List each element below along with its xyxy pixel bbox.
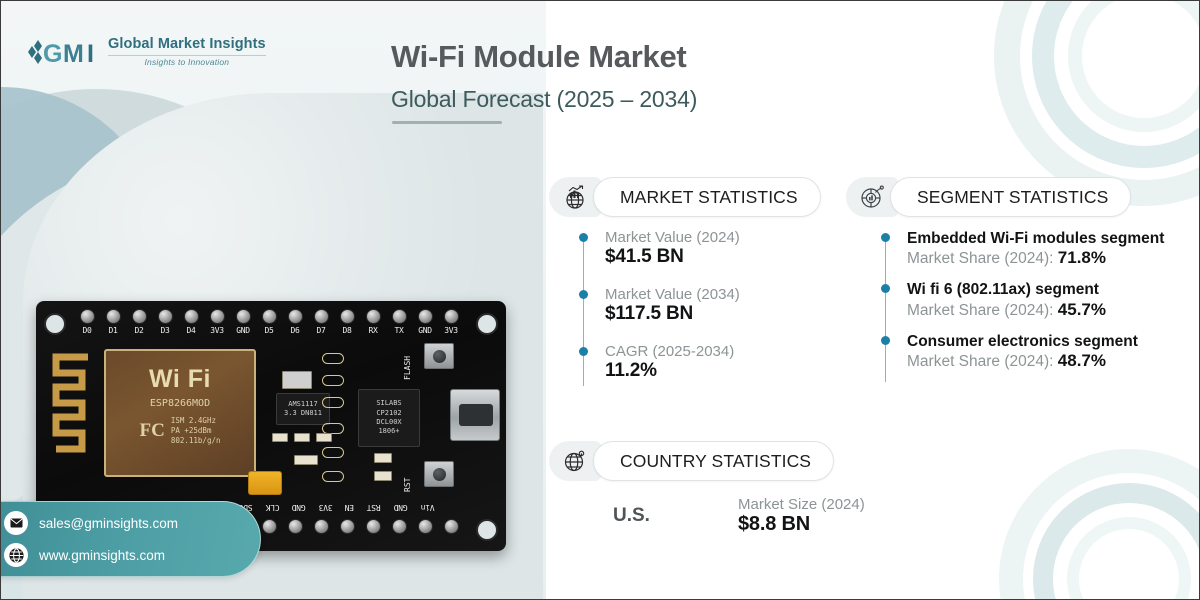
market-statistics-header: MARKET STATISTICS	[549, 177, 821, 217]
reset-button[interactable]	[424, 461, 454, 487]
bullet-dot	[881, 233, 890, 242]
solder-pad	[322, 397, 344, 408]
market-stat-item: Market Value (2034) $117.5 BN	[579, 286, 829, 325]
bullet-dot	[881, 284, 890, 293]
bullet-dot	[881, 336, 890, 345]
country-statistics-header: COUNTRY STATISTICS	[549, 441, 834, 481]
module-spec-line: 802.11b/g/n	[171, 436, 221, 446]
segment-share-value: 45.7%	[1058, 300, 1106, 319]
brand-divider	[108, 55, 266, 56]
segment-statistics-pill: SEGMENT STATISTICS	[890, 177, 1131, 217]
svg-text:I: I	[87, 40, 94, 67]
board-top-pin-row: D0 D1 D2 D3 D4 3V3 GND D5 D6 D7 D8 RX TX…	[76, 309, 462, 335]
brand-name: Global Market Insights	[108, 37, 266, 52]
country-metric-label: Market Size (2024)	[738, 496, 865, 513]
contact-email-row[interactable]: sales@gminsights.com	[4, 511, 260, 535]
country-statistics-row: U.S. Market Size (2024) $8.8 BN	[613, 496, 865, 536]
decor-rings-top-right	[994, 0, 1200, 206]
pin-label: 3V3	[444, 326, 458, 335]
envelope-icon	[4, 511, 28, 535]
esp8266-module: Wi Fi ESP8266MOD FC ISM 2.4GHz PA +25dBm…	[104, 349, 256, 477]
gmi-logo-icon: G M I	[23, 37, 99, 67]
segment-stat-item: Embedded Wi-Fi modules segment Market Sh…	[881, 229, 1181, 268]
usb-chip-line: 1806+	[378, 427, 399, 436]
market-stat-label: CAGR (2025-2034)	[605, 343, 829, 360]
market-stat-value: $117.5 BN	[605, 303, 829, 325]
segment-stat-item: Wi fi 6 (802.11ax) segment Market Share …	[881, 280, 1181, 319]
page-title: Wi-Fi Module Market	[391, 39, 686, 75]
pin-label: D6	[290, 326, 299, 335]
module-name-label: ESP8266MOD	[150, 398, 210, 409]
pin-label: RST	[367, 503, 381, 512]
segment-share-label: Market Share (2024):	[907, 302, 1053, 319]
country-statistics-label: COUNTRY STATISTICS	[620, 451, 811, 472]
market-statistics-pill: MARKET STATISTICS	[593, 177, 821, 217]
smd-component	[374, 471, 392, 481]
bullet-dot	[579, 347, 588, 356]
solder-pad	[322, 375, 344, 386]
solder-pad	[322, 447, 344, 458]
fcc-mark-icon: FC	[140, 420, 165, 442]
pin-label: TX	[394, 326, 403, 335]
pin-label: EN	[345, 503, 354, 512]
usb-chip-line: DCL00X	[376, 418, 401, 427]
segment-share: Market Share (2024): 48.7%	[907, 351, 1181, 371]
board-mount-hole	[476, 519, 498, 541]
market-stat-item: CAGR (2025-2034) 11.2%	[579, 343, 829, 382]
page-subtitle: Global Forecast (2025 – 2034)	[391, 86, 697, 113]
bullet-dot	[579, 290, 588, 299]
module-spec-line: ISM 2.4GHz	[171, 416, 221, 426]
country-statistics-pill: COUNTRY STATISTICS	[593, 441, 834, 481]
brand-tagline: Insights to Innovation	[108, 58, 266, 67]
segment-statistics-list: Embedded Wi-Fi modules segment Market Sh…	[881, 229, 1181, 371]
pin-label: Vin	[421, 503, 435, 512]
segment-statistics-header: SEGMENT STATISTICS	[846, 177, 1131, 217]
usb-chip-line: CP2102	[376, 409, 401, 418]
smd-component	[316, 433, 332, 442]
market-statistics-list: Market Value (2024) $41.5 BN Market Valu…	[579, 229, 829, 382]
reset-button-label: RST	[403, 478, 412, 492]
segment-title: Wi fi 6 (802.11ax) segment	[907, 280, 1181, 299]
solder-pad	[322, 471, 344, 482]
market-stat-item: Market Value (2024) $41.5 BN	[579, 229, 829, 268]
pin-label: D0	[82, 326, 91, 335]
pin-label: 3V3	[319, 503, 333, 512]
smd-component	[282, 371, 312, 389]
pin-label: RX	[368, 326, 377, 335]
segment-statistics-label: SEGMENT STATISTICS	[917, 187, 1108, 208]
module-brand-label: Wi Fi	[149, 367, 211, 392]
contact-email: sales@gminsights.com	[39, 516, 178, 531]
pin-label: CLK	[266, 503, 280, 512]
title-underline	[392, 121, 502, 124]
contact-website: www.gminsights.com	[39, 548, 165, 563]
market-stat-label: Market Value (2024)	[605, 229, 829, 246]
flash-button[interactable]	[424, 343, 454, 369]
market-stat-label: Market Value (2034)	[605, 286, 829, 303]
decor-rings-bottom-right	[999, 449, 1200, 600]
country-name: U.S.	[613, 496, 738, 527]
segment-share: Market Share (2024): 45.7%	[907, 300, 1181, 320]
pin-label: GND	[418, 326, 432, 335]
segment-stat-item: Consumer electronics segment Market Shar…	[881, 332, 1181, 371]
pin-label: D3	[160, 326, 169, 335]
globe-icon	[4, 543, 28, 567]
pin-label: GND	[292, 503, 306, 512]
segment-share-label: Market Share (2024):	[907, 353, 1053, 370]
svg-text:M: M	[63, 40, 84, 67]
pin-label: D8	[342, 326, 351, 335]
smd-component	[294, 433, 310, 442]
board-mount-hole	[44, 313, 66, 335]
solder-pad	[322, 353, 344, 364]
usb-serial-chip: SILABS CP2102 DCL00X 1806+	[358, 389, 420, 447]
micro-usb-port	[450, 389, 500, 441]
smd-component	[272, 433, 288, 442]
module-spec-line: PA +25dBm	[171, 426, 221, 436]
contact-website-row[interactable]: www.gminsights.com	[4, 543, 260, 567]
pin-label: D2	[134, 326, 143, 335]
smd-component	[294, 455, 318, 465]
pin-label: GND	[394, 503, 408, 512]
segment-share: Market Share (2024): 71.8%	[907, 248, 1181, 268]
bullet-dot	[579, 233, 588, 242]
flash-button-label: FLASH	[403, 356, 412, 380]
regulator-label: AMS1117	[288, 400, 318, 409]
segment-title: Embedded Wi-Fi modules segment	[907, 229, 1181, 248]
usb-chip-line: SILABS	[376, 399, 401, 408]
pin-label: D1	[108, 326, 117, 335]
pin-label: D4	[186, 326, 195, 335]
board-mount-hole	[476, 313, 498, 335]
brand-logo[interactable]: G M I Global Market Insights Insights to…	[23, 37, 266, 67]
country-metric-value: $8.8 BN	[738, 513, 865, 536]
regulator-sublabel: 3.3 DN811	[284, 409, 322, 418]
pin-label: GND	[236, 326, 250, 335]
svg-text:G: G	[43, 40, 62, 67]
pin-label: D7	[316, 326, 325, 335]
market-statistics-label: MARKET STATISTICS	[620, 187, 798, 208]
segment-share-label: Market Share (2024):	[907, 250, 1053, 267]
segment-share-value: 48.7%	[1058, 351, 1106, 370]
pin-label: 3V3	[210, 326, 224, 335]
segment-title: Consumer electronics segment	[907, 332, 1181, 351]
smd-component	[374, 453, 392, 463]
pin-label: D5	[264, 326, 273, 335]
market-stat-value: 11.2%	[605, 360, 829, 382]
segment-share-value: 71.8%	[1058, 248, 1106, 267]
market-stat-value: $41.5 BN	[605, 246, 829, 268]
pcb-antenna-trace	[48, 353, 96, 463]
infographic-canvas: G M I Global Market Insights Insights to…	[0, 0, 1200, 600]
voltage-regulator-chip: AMS1117 3.3 DN811	[276, 393, 330, 425]
contact-bar: sales@gminsights.com www.gminsights.com	[0, 501, 261, 577]
tantalum-capacitor	[248, 471, 282, 495]
